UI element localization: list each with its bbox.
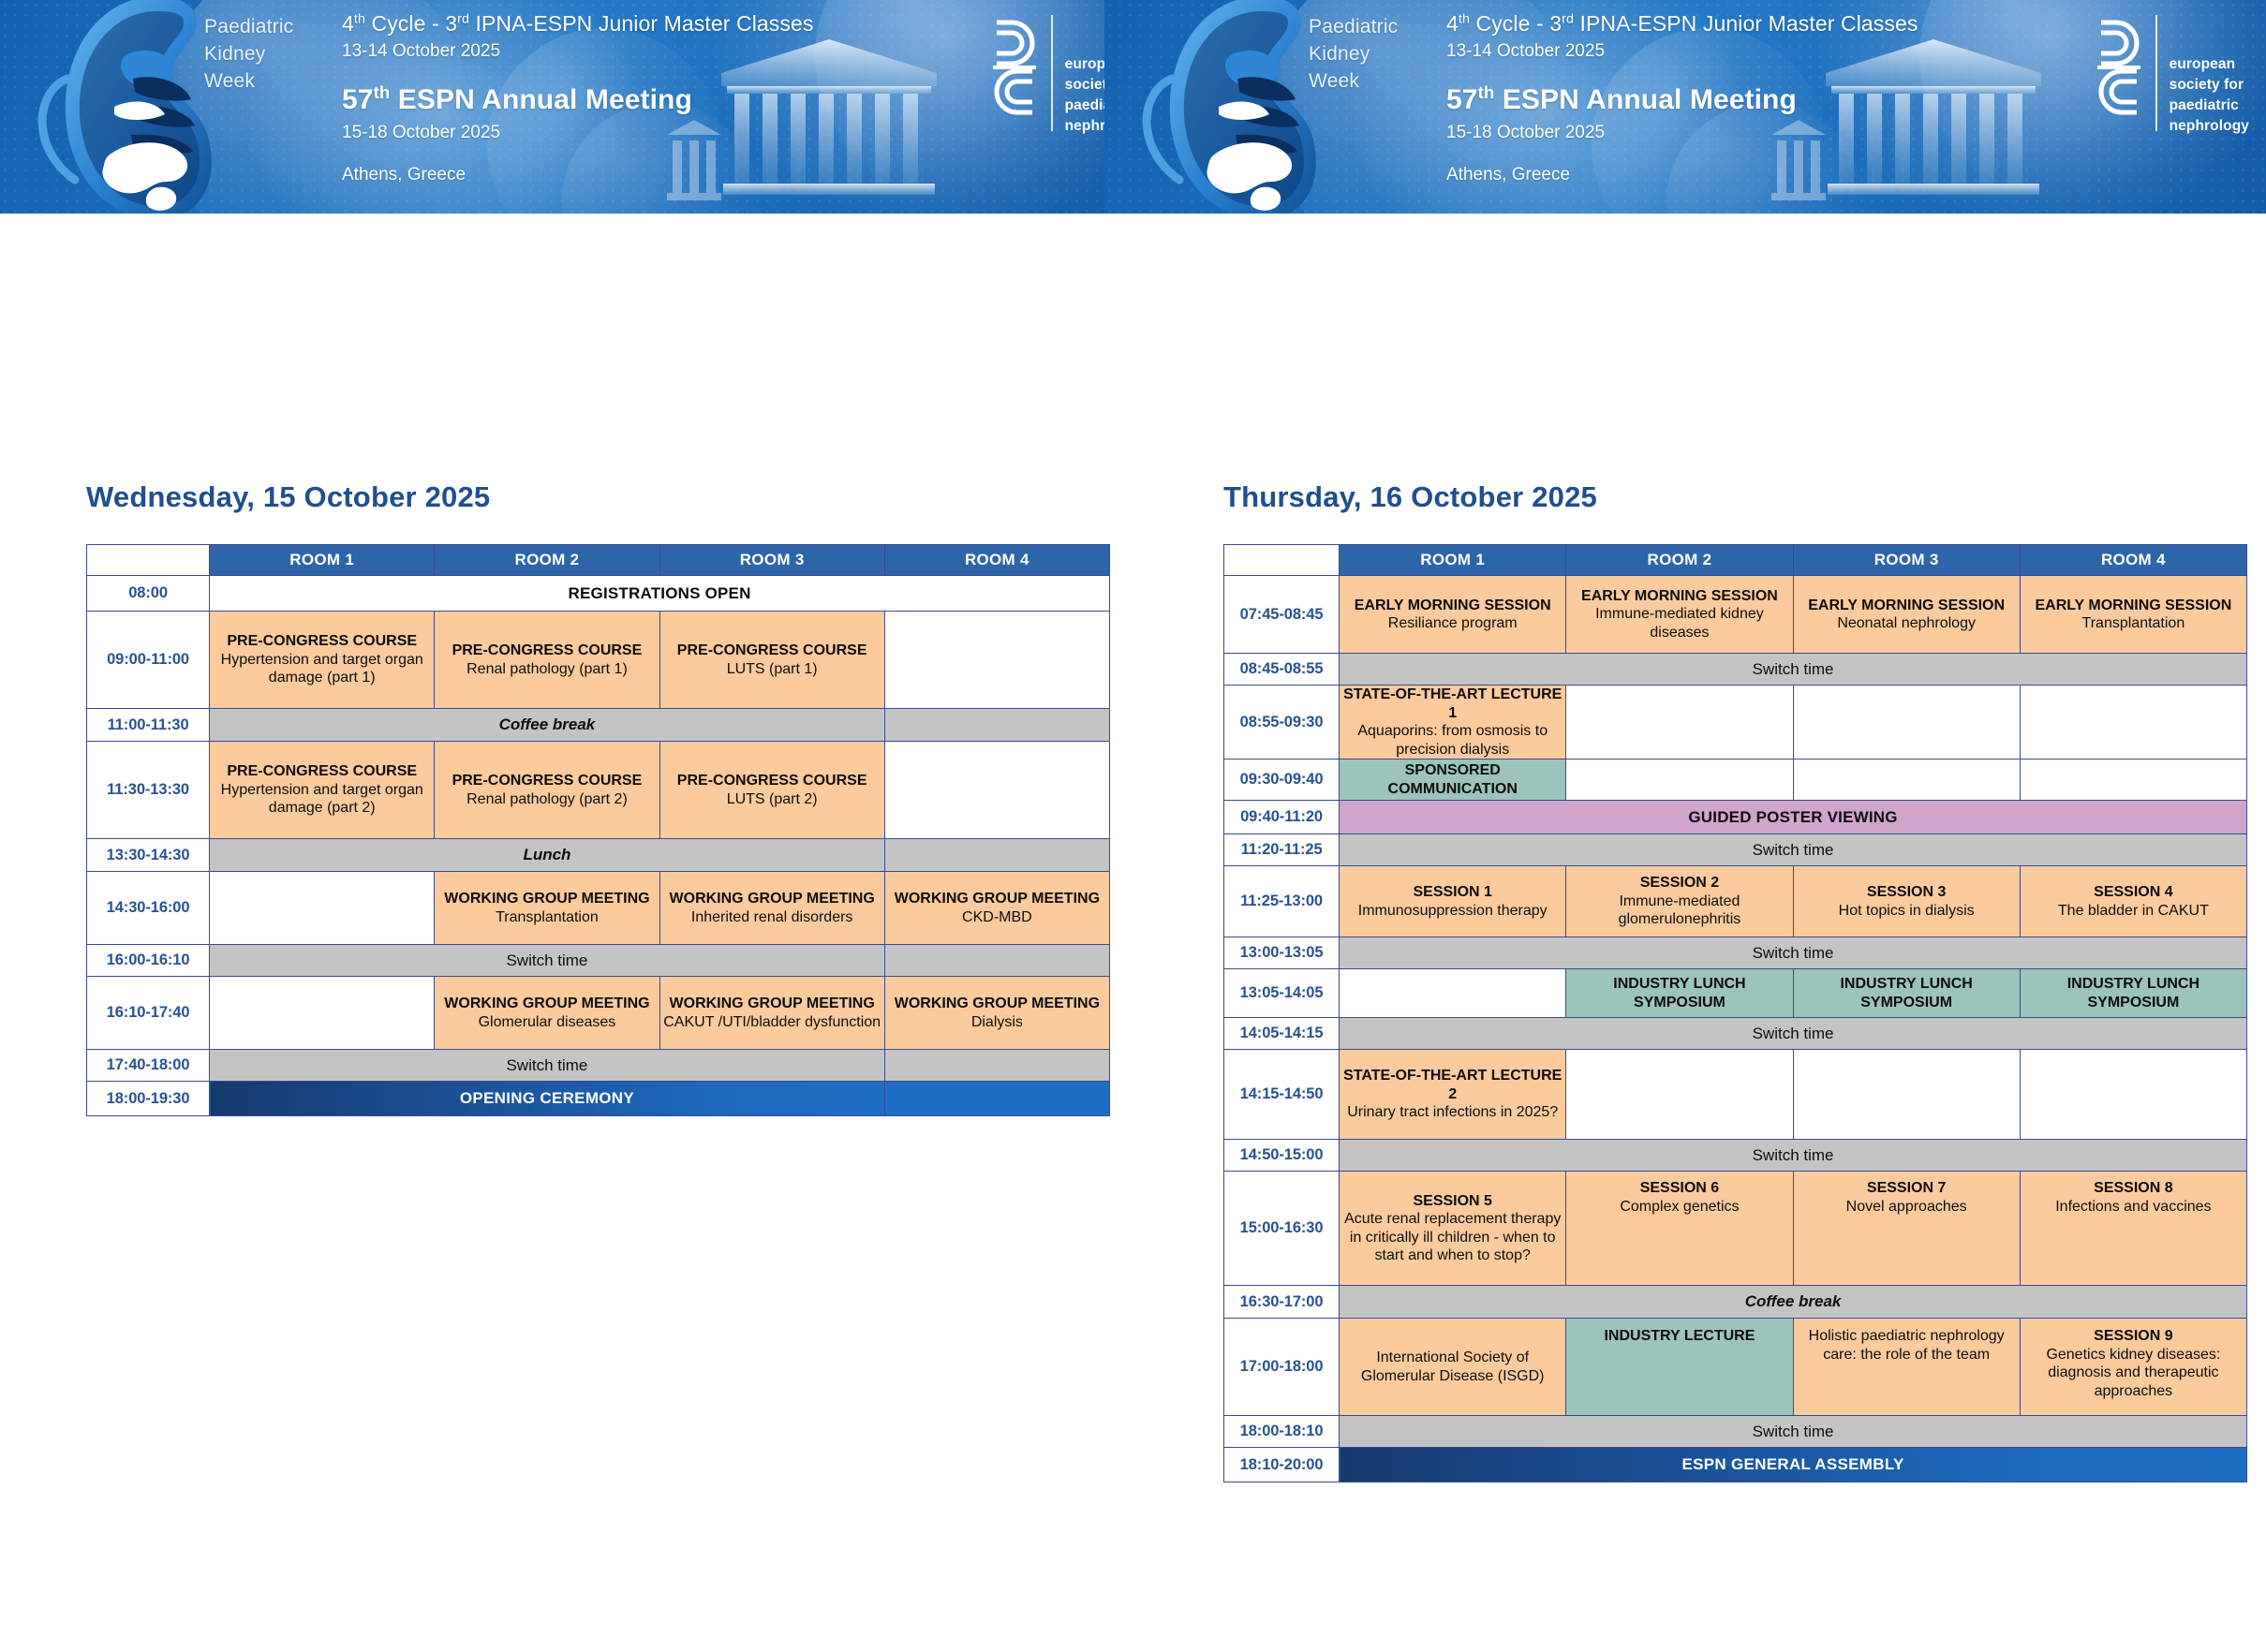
table-row: 14:50-15:00 Switch time <box>1224 1140 2247 1172</box>
empty-cell <box>1566 760 1793 801</box>
session-title: WORKING GROUP MEETING <box>435 995 659 1013</box>
session-subtitle: Resiliance program <box>1388 615 1518 631</box>
time-slot: 17:40-18:00 <box>87 1050 210 1082</box>
espn-logo-line-3: paediatric <box>2170 96 2249 116</box>
session-cell[interactable]: WORKING GROUP MEETING CAKUT /UTI/bladder… <box>659 977 884 1050</box>
session-title: PRE-CONGRESS COURSE <box>660 772 884 790</box>
session-subtitle: Inherited renal disorders <box>691 909 853 925</box>
session-cell[interactable]: SESSION 9 Genetics kidney diseases: diag… <box>2020 1319 2246 1416</box>
session-subtitle: Immune-mediated glomerulonephritis <box>1619 893 1741 928</box>
session-subtitle: LUTS (part 2) <box>727 791 818 807</box>
industry-lunch-symposium-cell[interactable]: INDUSTRY LUNCH SYMPOSIUM <box>2020 969 2246 1018</box>
session-title: SESSION 2 <box>1566 874 1792 892</box>
session-title: SESSION 1 <box>1340 883 1565 902</box>
table-row: 08:00 REGISTRATIONS OPEN <box>87 576 1110 612</box>
empty-cell <box>1566 686 1793 760</box>
break-filler-cell <box>884 945 1109 977</box>
table-row: 14:30-16:00 WORKING GROUP MEETING Transp… <box>87 872 1110 945</box>
time-slot: 14:15-14:50 <box>1224 1050 1340 1140</box>
session-title: STATE-OF-THE-ART LECTURE 2 <box>1340 1067 1565 1103</box>
break-filler-cell <box>884 709 1109 742</box>
session-title: SESSION 6 <box>1566 1179 1792 1198</box>
pkw-line-1: Paediatric <box>204 13 293 40</box>
junior-master-classes-title: 4th Cycle - 3rd IPNA-ESPN Junior Master … <box>342 11 814 37</box>
session-subtitle: Renal pathology (part 1) <box>467 661 628 677</box>
session-title: EARLY MORNING SESSION <box>2021 597 2246 615</box>
session-subtitle: Acute renal replacement therapy in criti… <box>1344 1211 1561 1263</box>
empty-cell <box>1793 686 2020 760</box>
espn-logo-mark-icon <box>987 15 1042 120</box>
empty-cell <box>2020 686 2246 760</box>
session-subtitle: Hypertension and target organ damage (pa… <box>221 652 423 686</box>
session-cell[interactable]: Holistic paediatric nephrology care: the… <box>1793 1319 2020 1416</box>
junior-master-classes-dates: 13-14 October 2025 <box>342 41 814 62</box>
espn-logo-line-4: nephrology <box>2170 116 2249 137</box>
espn-logo-line-1: european <box>2170 54 2249 75</box>
session-subtitle: Genetics kidney diseases: diagnosis and … <box>2046 1347 2220 1399</box>
opening-ceremony-filler-cell <box>884 1082 1109 1116</box>
table-row: 16:00-16:10 Switch time <box>87 945 1110 977</box>
switch-time-cell: Switch time <box>1340 1140 2247 1172</box>
time-slot: 18:00-19:30 <box>87 1082 210 1116</box>
espn-logo-text: european society for paediatric nephrolo… <box>2170 15 2249 137</box>
time-slot: 07:45-08:45 <box>1224 576 1340 654</box>
session-subtitle: Immunosuppression therapy <box>1358 903 1548 919</box>
empty-cell <box>1793 760 2020 801</box>
session-title: SESSION 4 <box>2021 883 2246 902</box>
time-slot: 16:00-16:10 <box>87 945 210 977</box>
session-title: WORKING GROUP MEETING <box>885 995 1109 1013</box>
industry-lecture-cell[interactable]: INDUSTRY LECTURE <box>1566 1319 1793 1416</box>
thursday-day-title: Thursday, 16 October 2025 <box>1223 480 1597 514</box>
time-slot: 11:00-11:30 <box>87 709 210 742</box>
guided-poster-viewing-cell[interactable]: GUIDED POSTER VIEWING <box>1340 801 2247 834</box>
espn-logo-line-2: society for <box>2170 75 2249 96</box>
session-cell[interactable]: WORKING GROUP MEETING Dialysis <box>884 977 1109 1050</box>
session-subtitle: Hot topics in dialysis <box>1839 903 1975 919</box>
time-slot: 14:50-15:00 <box>1224 1140 1340 1172</box>
switch-time-cell: Switch time <box>1340 1416 2247 1448</box>
table-row: 15:00-16:30 SESSION 5 Acute renal replac… <box>1224 1172 2247 1286</box>
session-title: PRE-CONGRESS COURSE <box>210 632 434 651</box>
pkw-line-3: Week <box>1309 67 1398 95</box>
empty-cell <box>2020 1050 2246 1140</box>
junior-master-classes-dates: 13-14 October 2025 <box>1446 41 1918 62</box>
time-slot: 15:00-16:30 <box>1224 1172 1340 1286</box>
session-title: WORKING GROUP MEETING <box>660 890 884 908</box>
paediatric-kidney-week-label: Paediatric Kidney Week <box>204 13 293 95</box>
empty-cell <box>884 742 1109 839</box>
column-header-room-4: ROOM 4 <box>884 545 1109 576</box>
empty-cell <box>210 872 435 945</box>
banner-row: Paediatric Kidney Week 4th Cycle - 3rd I… <box>0 0 2266 214</box>
empty-cell <box>1793 1050 2020 1140</box>
session-title: SESSION 7 <box>1794 1179 2020 1198</box>
session-cell[interactable]: PRE-CONGRESS COURSE LUTS (part 1) <box>659 612 884 709</box>
table-row: 11:20-11:25 Switch time <box>1224 834 2247 866</box>
table-row: 11:25-13:00 SESSION 1 Immunosuppression … <box>1224 866 2247 937</box>
registrations-open-cell[interactable]: REGISTRATIONS OPEN <box>210 576 1110 612</box>
time-slot: 14:30-16:00 <box>87 872 210 945</box>
espn-logo: european society for paediatric nephrolo… <box>2092 15 2249 137</box>
session-subtitle: Holistic paediatric nephrology care: the… <box>1809 1328 2005 1363</box>
meeting-location: Athens, Greece <box>1446 165 1918 185</box>
session-cell[interactable]: PRE-CONGRESS COURSE Renal pathology (par… <box>435 612 659 709</box>
session-subtitle: Urinary tract infections in 2025? <box>1347 1104 1558 1120</box>
table-row: 09:00-11:00 PRE-CONGRESS COURSE Hyperten… <box>87 612 1110 709</box>
table-row: 11:00-11:30 Coffee break <box>87 709 1110 742</box>
session-title: SESSION 5 <box>1340 1192 1565 1211</box>
session-title: SESSION 3 <box>1794 883 2020 902</box>
session-title: EARLY MORNING SESSION <box>1340 597 1565 615</box>
time-slot: 13:30-14:30 <box>87 839 210 872</box>
meeting-info-block: 4th Cycle - 3rd IPNA-ESPN Junior Master … <box>1446 11 1918 185</box>
session-subtitle: Glomerular diseases <box>479 1014 616 1030</box>
empty-cell <box>1340 969 1566 1018</box>
table-row: 16:10-17:40 WORKING GROUP MEETING Glomer… <box>87 977 1110 1050</box>
table-row: 18:00-19:30 OPENING CEREMONY <box>87 1082 1110 1116</box>
espn-annual-meeting-title: 57th ESPN Annual Meeting <box>1446 82 1918 116</box>
switch-time-cell: Switch time <box>210 1050 885 1082</box>
session-title: SESSION 9 <box>2021 1327 2246 1346</box>
session-cell[interactable]: PRE-CONGRESS COURSE Hypertension and tar… <box>210 612 435 709</box>
espn-annual-meeting-title: 57th ESPN Annual Meeting <box>342 82 814 116</box>
column-header-room-1: ROOM 1 <box>210 545 435 576</box>
session-subtitle: International Society of Glomerular Dise… <box>1361 1350 1545 1384</box>
industry-lunch-symposium-cell[interactable]: INDUSTRY LUNCH SYMPOSIUM <box>1793 969 2020 1018</box>
session-title: PRE-CONGRESS COURSE <box>660 642 884 660</box>
session-title: WORKING GROUP MEETING <box>660 995 884 1013</box>
espn-logo-mark-icon <box>2092 15 2146 120</box>
meeting-info-block: 4th Cycle - 3rd IPNA-ESPN Junior Master … <box>342 11 814 185</box>
espn-logo-divider <box>2155 15 2157 131</box>
session-subtitle: Dialysis <box>971 1014 1023 1030</box>
table-row: 09:30-09:40 SPONSORED COMMUNICATION <box>1224 760 2247 801</box>
time-slot: 09:30-09:40 <box>1224 760 1340 801</box>
espn-logo-divider <box>1051 15 1053 131</box>
column-header-room-2: ROOM 2 <box>435 545 659 576</box>
pkw-line-1: Paediatric <box>1309 13 1398 40</box>
session-cell[interactable]: SESSION 3 Hot topics in dialysis <box>1793 866 2020 937</box>
programme-content: Wednesday, 15 October 2025 ROOM 1 ROOM 2… <box>0 214 2266 1652</box>
time-slot: 18:10-20:00 <box>1224 1448 1340 1482</box>
session-subtitle: Transplantation <box>496 909 599 925</box>
time-slot: 14:05-14:15 <box>1224 1018 1340 1050</box>
switch-time-cell: Switch time <box>1340 937 2247 969</box>
switch-time-cell: Switch time <box>210 945 885 977</box>
table-row: 14:15-14:50 STATE-OF-THE-ART LECTURE 2 U… <box>1224 1050 2247 1140</box>
session-cell[interactable]: PRE-CONGRESS COURSE Renal pathology (par… <box>435 742 659 839</box>
pkw-line-2: Kidney <box>204 40 293 67</box>
break-filler-cell <box>884 1050 1109 1082</box>
time-slot: 17:00-18:00 <box>1224 1319 1340 1416</box>
session-cell[interactable]: SESSION 4 The bladder in CAKUT <box>2020 866 2246 937</box>
column-header-room-3: ROOM 3 <box>1793 545 2020 576</box>
session-subtitle: Complex genetics <box>1620 1199 1739 1215</box>
session-subtitle: CAKUT /UTI/bladder dysfunction <box>663 1014 881 1030</box>
session-cell[interactable]: WORKING GROUP MEETING Glomerular disease… <box>435 977 659 1050</box>
time-slot: 13:05-14:05 <box>1224 969 1340 1018</box>
session-subtitle: Novel approaches <box>1846 1199 1967 1215</box>
session-cell[interactable]: WORKING GROUP MEETING Inherited renal di… <box>659 872 884 945</box>
session-title: STATE-OF-THE-ART LECTURE 1 <box>1340 686 1565 722</box>
table-row: 18:10-20:00 ESPN GENERAL ASSEMBLY <box>1224 1448 2247 1482</box>
coffee-break-cell: Coffee break <box>210 709 885 742</box>
table-header-row: ROOM 1 ROOM 2 ROOM 3 ROOM 4 <box>1224 545 2247 576</box>
empty-cell <box>1566 1050 1793 1140</box>
congress-banner-left: Paediatric Kidney Week 4th Cycle - 3rd I… <box>0 0 1162 214</box>
coffee-break-cell: Coffee break <box>1340 1286 2247 1319</box>
session-title: PRE-CONGRESS COURSE <box>210 762 434 781</box>
table-header-row: ROOM 1 ROOM 2 ROOM 3 ROOM 4 <box>87 545 1110 576</box>
session-cell[interactable]: PRE-CONGRESS COURSE LUTS (part 2) <box>659 742 884 839</box>
empty-cell <box>2020 760 2246 801</box>
session-subtitle: CKD-MBD <box>962 909 1032 925</box>
opening-ceremony-cell[interactable]: OPENING CEREMONY <box>210 1082 885 1116</box>
column-header-room-2: ROOM 2 <box>1566 545 1793 576</box>
time-slot: 11:30-13:30 <box>87 742 210 839</box>
table-row: 13:30-14:30 Lunch <box>87 839 1110 872</box>
industry-lunch-symposium-cell[interactable]: INDUSTRY LUNCH SYMPOSIUM <box>1566 969 1793 1018</box>
meeting-location: Athens, Greece <box>342 165 814 185</box>
session-title: EARLY MORNING SESSION <box>1566 587 1792 606</box>
session-cell[interactable]: STATE-OF-THE-ART LECTURE 1 Aquaporins: f… <box>1340 686 1566 760</box>
table-row: 16:30-17:00 Coffee break <box>1224 1286 2247 1319</box>
time-slot: 08:00 <box>87 576 210 612</box>
session-subtitle: The bladder in CAKUT <box>2058 903 2209 919</box>
table-row: 13:00-13:05 Switch time <box>1224 937 2247 969</box>
session-subtitle: Immune-mediated kidney diseases <box>1595 606 1764 641</box>
session-cell[interactable]: EARLY MORNING SESSION Neonatal nephrolog… <box>1793 576 2020 654</box>
time-slot: 18:00-18:10 <box>1224 1416 1340 1448</box>
session-cell[interactable]: SESSION 6 Complex genetics <box>1566 1172 1793 1286</box>
table-row: 09:40-11:20 GUIDED POSTER VIEWING <box>1224 801 2247 834</box>
espn-annual-meeting-dates: 15-18 October 2025 <box>1446 123 1918 143</box>
espn-general-assembly-cell[interactable]: ESPN GENERAL ASSEMBLY <box>1340 1448 2247 1482</box>
session-cell[interactable]: SESSION 1 Immunosuppression therapy <box>1340 866 1566 937</box>
column-header-room-1: ROOM 1 <box>1340 545 1566 576</box>
switch-time-cell: Switch time <box>1340 834 2247 866</box>
session-subtitle: Neonatal nephrology <box>1837 615 1976 631</box>
empty-cell <box>210 977 435 1050</box>
wednesday-schedule-table: ROOM 1 ROOM 2 ROOM 3 ROOM 4 08:00 REGIST… <box>86 544 1110 1116</box>
table-row: 18:00-18:10 Switch time <box>1224 1416 2247 1448</box>
session-subtitle: Aquaporins: from osmosis to precision di… <box>1357 723 1548 758</box>
time-slot: 08:45-08:55 <box>1224 654 1340 686</box>
session-cell[interactable]: SESSION 5 Acute renal replacement therap… <box>1340 1172 1566 1286</box>
time-column-corner <box>1224 545 1340 576</box>
session-title: PRE-CONGRESS COURSE <box>435 772 659 790</box>
session-subtitle: Infections and vaccines <box>2055 1199 2211 1215</box>
pkw-line-2: Kidney <box>1309 40 1398 67</box>
session-cell[interactable]: PRE-CONGRESS COURSE Hypertension and tar… <box>210 742 435 839</box>
session-title: WORKING GROUP MEETING <box>885 890 1109 908</box>
table-row: 14:05-14:15 Switch time <box>1224 1018 2247 1050</box>
column-header-room-4: ROOM 4 <box>2020 545 2246 576</box>
session-subtitle: Transplantation <box>2082 615 2185 631</box>
junior-master-classes-title: 4th Cycle - 3rd IPNA-ESPN Junior Master … <box>1446 11 1918 37</box>
switch-time-cell: Switch time <box>1340 1018 2247 1050</box>
table-row: 08:55-09:30 STATE-OF-THE-ART LECTURE 1 A… <box>1224 686 2247 760</box>
session-cell[interactable]: STATE-OF-THE-ART LECTURE 2 Urinary tract… <box>1340 1050 1566 1140</box>
session-subtitle: Renal pathology (part 2) <box>467 791 628 807</box>
time-slot: 09:40-11:20 <box>1224 801 1340 834</box>
session-title: PRE-CONGRESS COURSE <box>435 642 659 660</box>
empty-cell <box>884 612 1109 709</box>
session-cell[interactable]: SESSION 7 Novel approaches <box>1793 1172 2020 1286</box>
session-subtitle: Hypertension and target organ damage (pa… <box>221 782 423 817</box>
isgd-session-cell[interactable]: International Society of Glomerular Dise… <box>1340 1319 1566 1416</box>
session-title: SESSION 8 <box>2021 1179 2246 1198</box>
session-title: EARLY MORNING SESSION <box>1794 597 2020 615</box>
time-slot: 11:20-11:25 <box>1224 834 1340 866</box>
lunch-cell: Lunch <box>210 839 885 872</box>
break-filler-cell <box>884 839 1109 872</box>
paediatric-kidney-week-label: Paediatric Kidney Week <box>1309 13 1398 95</box>
table-row: 08:45-08:55 Switch time <box>1224 654 2247 686</box>
session-subtitle: LUTS (part 1) <box>727 661 818 677</box>
pkw-line-3: Week <box>204 67 293 95</box>
session-cell[interactable]: WORKING GROUP MEETING CKD-MBD <box>884 872 1109 945</box>
table-row: 07:45-08:45 EARLY MORNING SESSION Resili… <box>1224 576 2247 654</box>
espn-annual-meeting-dates: 15-18 October 2025 <box>342 123 814 143</box>
table-row: 13:05-14:05 INDUSTRY LUNCH SYMPOSIUM IND… <box>1224 969 2247 1018</box>
session-cell[interactable]: EARLY MORNING SESSION Immune-mediated ki… <box>1566 576 1793 654</box>
thursday-schedule-table: ROOM 1 ROOM 2 ROOM 3 ROOM 4 07:45-08:45 … <box>1223 544 2247 1482</box>
time-slot: 08:55-09:30 <box>1224 686 1340 760</box>
sponsored-communication-cell[interactable]: SPONSORED COMMUNICATION <box>1340 760 1566 801</box>
session-cell[interactable]: SESSION 2 Immune-mediated glomerulonephr… <box>1566 866 1793 937</box>
table-row: 17:40-18:00 Switch time <box>87 1050 1110 1082</box>
time-slot: 13:00-13:05 <box>1224 937 1340 969</box>
session-cell[interactable]: EARLY MORNING SESSION Resiliance program <box>1340 576 1566 654</box>
time-slot: 16:10-17:40 <box>87 977 210 1050</box>
table-row: 17:00-18:00 International Society of Glo… <box>1224 1319 2247 1416</box>
time-slot: 09:00-11:00 <box>87 612 210 709</box>
session-cell[interactable]: WORKING GROUP MEETING Transplantation <box>435 872 659 945</box>
session-cell[interactable]: SESSION 8 Infections and vaccines <box>2020 1172 2246 1286</box>
time-column-corner <box>87 545 210 576</box>
table-row: 11:30-13:30 PRE-CONGRESS COURSE Hyperten… <box>87 742 1110 839</box>
session-cell[interactable]: EARLY MORNING SESSION Transplantation <box>2020 576 2246 654</box>
column-header-room-3: ROOM 3 <box>659 545 884 576</box>
switch-time-cell: Switch time <box>1340 654 2247 686</box>
wednesday-day-title: Wednesday, 15 October 2025 <box>86 480 490 514</box>
session-title: WORKING GROUP MEETING <box>435 890 659 908</box>
time-slot: 16:30-17:00 <box>1224 1286 1340 1319</box>
congress-banner-right: Paediatric Kidney Week 4th Cycle - 3rd I… <box>1104 0 2266 214</box>
time-slot: 11:25-13:00 <box>1224 866 1340 937</box>
